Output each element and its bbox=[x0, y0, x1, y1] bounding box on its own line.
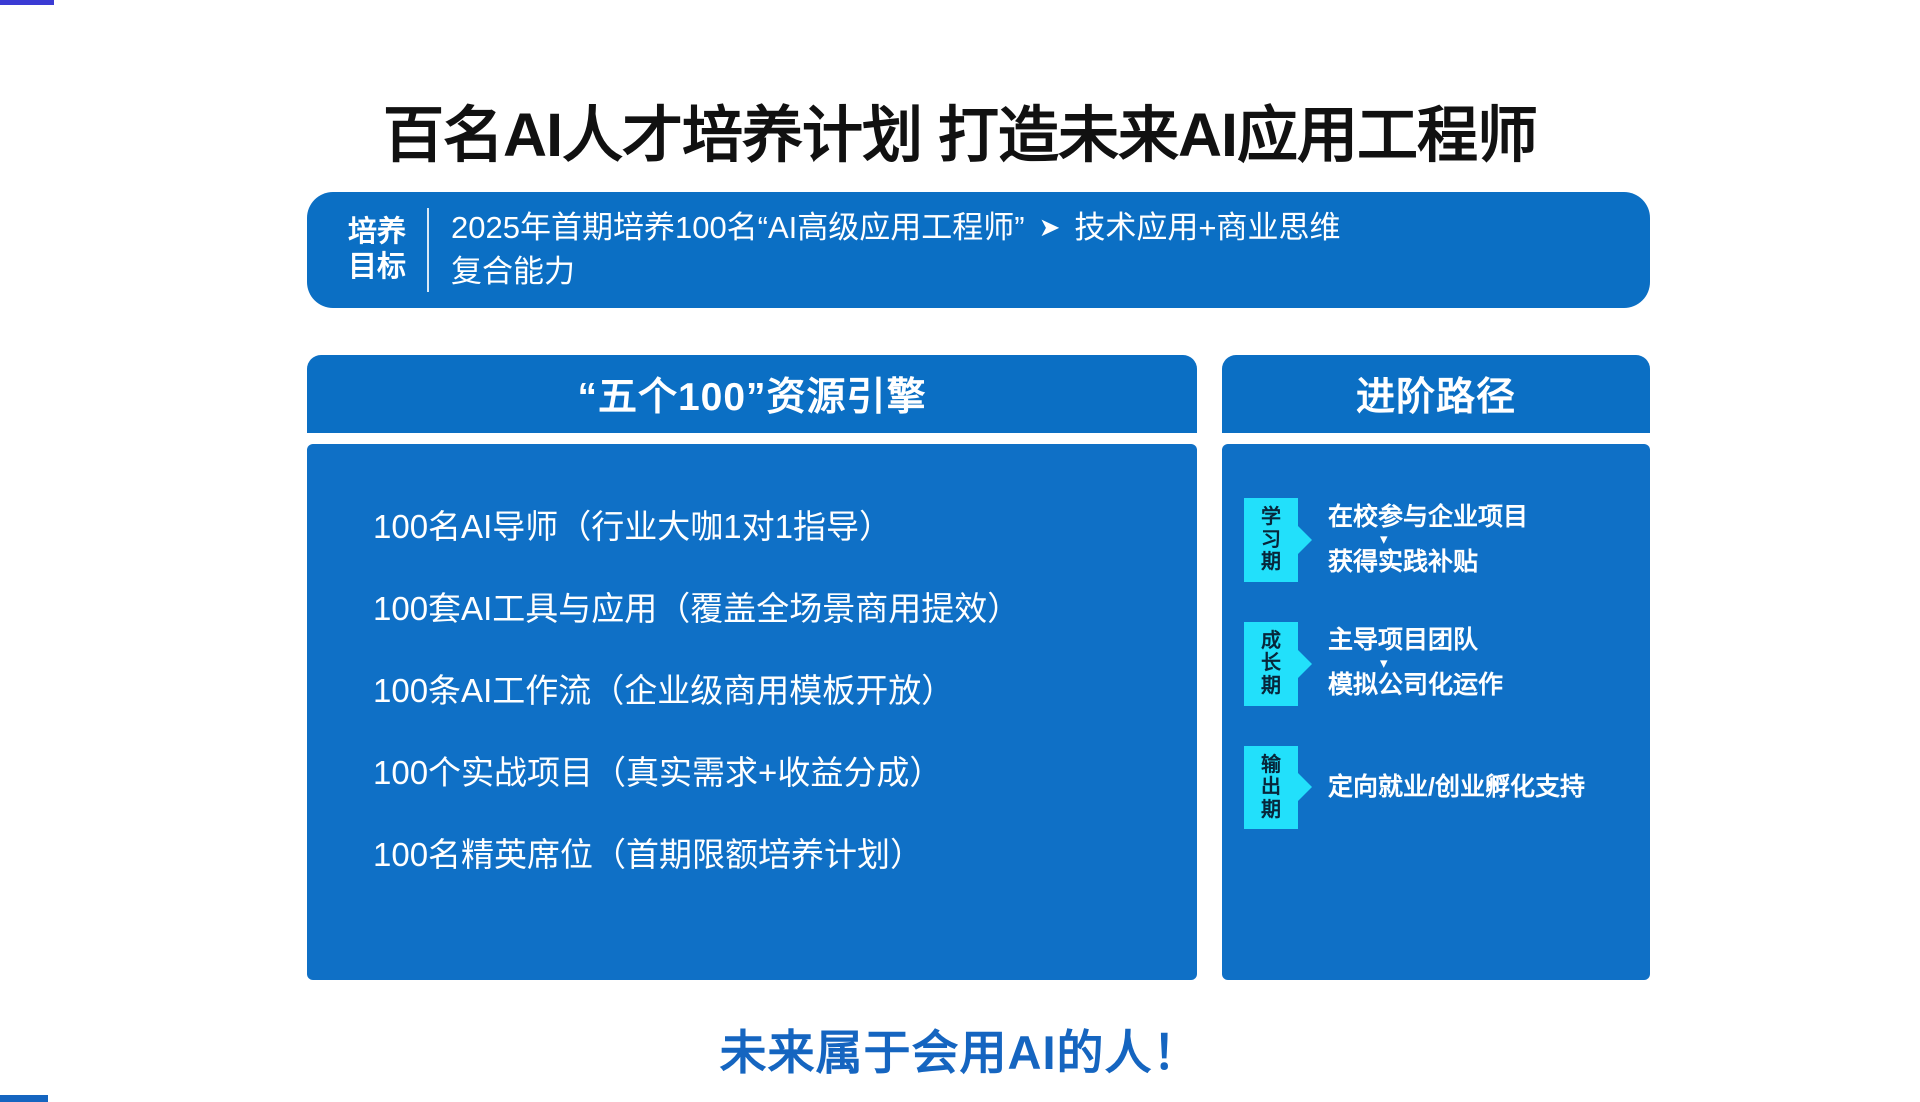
stage-badge-growth: 成 长 期 bbox=[1244, 622, 1298, 706]
goal-label-line2: 目标 bbox=[348, 251, 406, 283]
resource-engine-header: “五个100”资源引擎 bbox=[307, 355, 1197, 433]
stage-description-learning: 在校参与企业项目 ▾ 获得实践补贴 bbox=[1328, 503, 1528, 578]
stage-item-learning: 学 习 期 在校参与企业项目 ▾ 获得实践补贴 bbox=[1222, 498, 1650, 582]
stage-badge-output: 输 出 期 bbox=[1244, 746, 1298, 830]
chevron-down-icon: ▾ bbox=[1328, 657, 1503, 671]
stage-badge-char: 长 bbox=[1248, 652, 1294, 675]
stage-line-2: 获得实践补贴 bbox=[1328, 548, 1528, 578]
stage-badge-learning: 学 习 期 bbox=[1244, 498, 1298, 582]
goal-divider bbox=[427, 208, 429, 292]
goal-text-part1: 2025年首期培养100名“AI高级应用工程师” bbox=[451, 210, 1025, 245]
stage-item-growth: 成 长 期 主导项目团队 ▾ 模拟公司化运作 bbox=[1222, 622, 1650, 706]
stage-badge-char: 出 bbox=[1248, 776, 1294, 799]
stage-line-1: 在校参与企业项目 bbox=[1328, 503, 1528, 533]
chevron-down-icon: ▾ bbox=[1328, 533, 1528, 547]
page-title: 百名AI人才培养计划 打造未来AI应用工程师 bbox=[0, 85, 1920, 174]
stage-description-output: 定向就业/创业孵化支持 bbox=[1328, 773, 1585, 803]
goal-text-part3: 复合能力 bbox=[451, 254, 575, 289]
progression-path-header: 进阶路径 bbox=[1222, 355, 1650, 433]
progression-stage-list: 学 习 期 在校参与企业项目 ▾ 获得实践补贴 成 长 期 主导项目团队 ▾ 模… bbox=[1222, 444, 1650, 980]
goal-text-part2: 技术应用+商业思维 bbox=[1074, 210, 1340, 245]
stage-badge-char: 输 bbox=[1248, 754, 1294, 777]
stage-badge-char: 期 bbox=[1248, 551, 1294, 574]
stage-badge-char: 期 bbox=[1248, 799, 1294, 822]
stage-line-2: 模拟公司化运作 bbox=[1328, 671, 1503, 701]
list-item: 100个实战项目（真实需求+收益分成） bbox=[307, 756, 1197, 789]
stage-line-1: 主导项目团队 bbox=[1328, 626, 1503, 656]
accent-bar-top-left bbox=[0, 0, 54, 5]
resource-engine-panel: “五个100”资源引擎 100名AI导师（行业大咖1对1指导） 100套AI工具… bbox=[307, 355, 1197, 980]
resource-engine-list: 100名AI导师（行业大咖1对1指导） 100套AI工具与应用（覆盖全场景商用提… bbox=[307, 444, 1197, 980]
goal-text: 2025年首期培养100名“AI高级应用工程师”➤技术应用+商业思维 复合能力 bbox=[451, 206, 1371, 294]
closing-tagline: 未来属于会用AI的人！ bbox=[0, 1014, 1920, 1083]
arrow-right-icon: ➤ bbox=[1025, 209, 1075, 246]
progression-path-panel: 进阶路径 学 习 期 在校参与企业项目 ▾ 获得实践补贴 成 长 期 主导项目团… bbox=[1222, 355, 1650, 980]
stage-badge-char: 学 bbox=[1248, 506, 1294, 529]
list-item: 100名精英席位（首期限额培养计划） bbox=[307, 838, 1197, 871]
list-item: 100名AI导师（行业大咖1对1指导） bbox=[307, 510, 1197, 543]
stage-description-growth: 主导项目团队 ▾ 模拟公司化运作 bbox=[1328, 626, 1503, 701]
accent-bar-bottom-left bbox=[0, 1095, 48, 1102]
list-item: 100条AI工作流（企业级商用模板开放） bbox=[307, 674, 1197, 707]
stage-badge-char: 期 bbox=[1248, 675, 1294, 698]
stage-badge-char: 成 bbox=[1248, 630, 1294, 653]
stage-line-1: 定向就业/创业孵化支持 bbox=[1328, 773, 1585, 803]
stage-badge-char: 习 bbox=[1248, 529, 1294, 552]
goal-banner: 培养 目标 2025年首期培养100名“AI高级应用工程师”➤技术应用+商业思维… bbox=[307, 192, 1650, 308]
goal-label-line1: 培养 bbox=[348, 216, 406, 248]
stage-item-output: 输 出 期 定向就业/创业孵化支持 bbox=[1222, 746, 1650, 830]
goal-label: 培养 目标 bbox=[307, 215, 419, 286]
list-item: 100套AI工具与应用（覆盖全场景商用提效） bbox=[307, 592, 1197, 625]
